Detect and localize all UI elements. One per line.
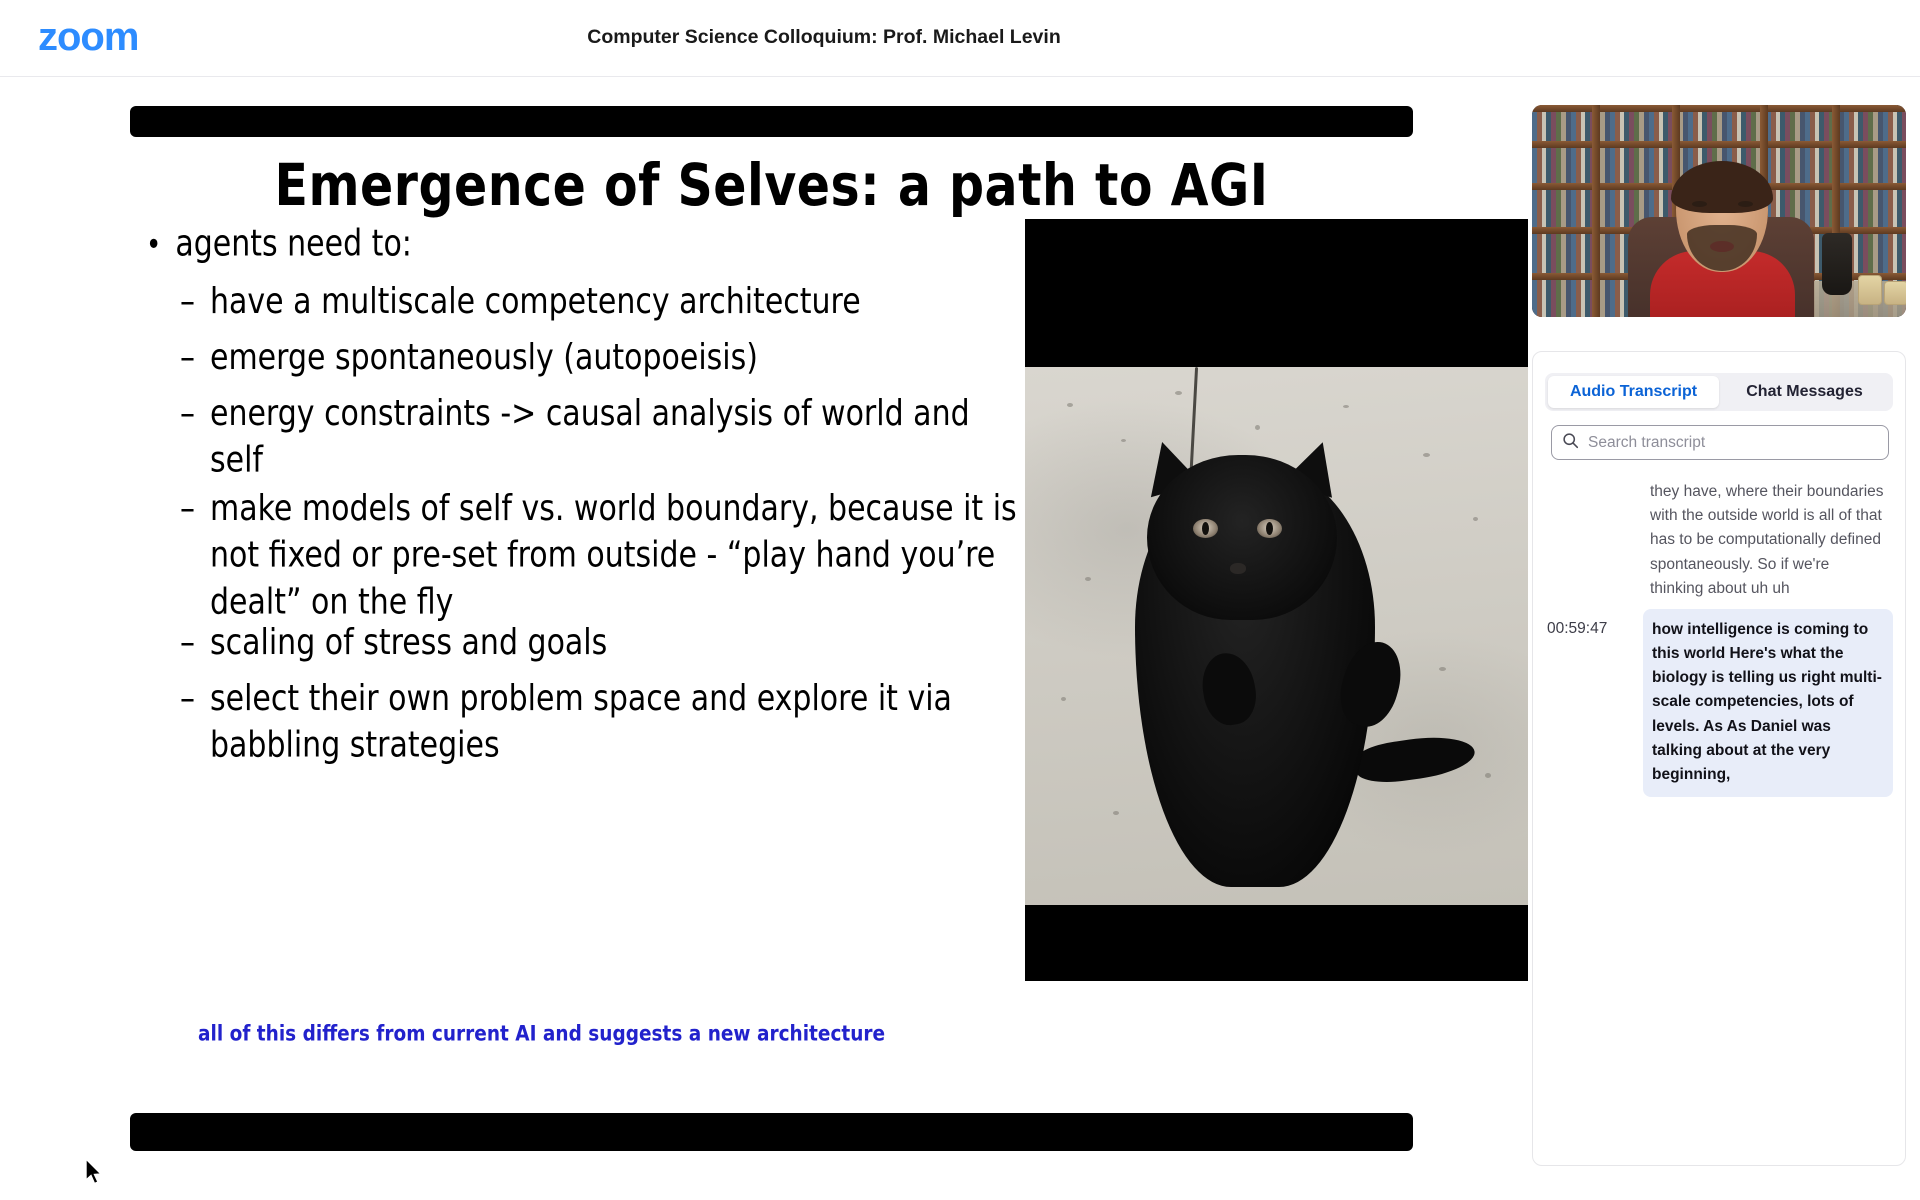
bullet-level2: – energy constraints -> causal analysis … <box>180 390 1018 484</box>
dash-marker-icon: – <box>180 675 195 722</box>
cat-head <box>1147 455 1337 620</box>
slide-sub-bullets: – have a multiscale competency architect… <box>180 278 1018 753</box>
transcript-text: they have, where their boundaries with t… <box>1643 476 1893 605</box>
search-icon <box>1562 432 1579 454</box>
slide-bullet-list: • agents need to: – have a multiscale co… <box>138 226 1018 770</box>
speaker-eye-left <box>1692 201 1707 207</box>
right-side-panel: Audio Transcript Chat Messages they have… <box>1528 78 1920 1200</box>
slide-top-bar <box>130 106 1413 137</box>
slide-title: Emergence of Selves: a path to AGI <box>130 152 1413 219</box>
bullet-level1-label: agents need to: <box>175 226 412 263</box>
speaker-webcam-tile[interactable] <box>1532 105 1906 317</box>
bullet-level2: – emerge spontaneously (autopoeisis) <box>180 334 1018 381</box>
bullet-level2-label: make models of self vs. world boundary, … <box>210 485 1018 625</box>
transcript-entries[interactable]: they have, where their boundaries with t… <box>1533 476 1906 1166</box>
kitten-video-frame <box>1025 367 1535 905</box>
bullet-level2-label: scaling of stress and goals <box>210 619 1018 666</box>
transcript-text: how intelligence is coming to this world… <box>1643 609 1893 797</box>
bullet-level2-label: energy constraints -> causal analysis of… <box>210 390 1018 484</box>
embedded-kitten-video[interactable] <box>1025 219 1535 981</box>
bullet-level2-label: emerge spontaneously (autopoeisis) <box>210 334 1018 381</box>
jar-right <box>1884 281 1906 305</box>
bullet-level2: – have a multiscale competency architect… <box>180 278 1018 325</box>
bullet-level2-label: have a multiscale competency architectur… <box>210 278 1018 325</box>
meeting-title: Computer Science Colloquium: Prof. Micha… <box>0 26 1648 49</box>
speaker-mouth <box>1710 241 1734 252</box>
bullet-level2: – scaling of stress and goals <box>180 619 1018 666</box>
tab-audio-transcript[interactable]: Audio Transcript <box>1548 376 1719 408</box>
cat-tail <box>1353 731 1477 787</box>
slide-bottom-bar <box>130 1113 1413 1151</box>
transcript-entry-active[interactable]: 00:59:47 how intelligence is coming to t… <box>1547 609 1893 797</box>
cat-eye-right <box>1257 519 1282 538</box>
bullet-dot-icon: • <box>146 230 161 262</box>
cat-eye-left <box>1193 519 1218 538</box>
transcript-panel: Audio Transcript Chat Messages they have… <box>1532 351 1906 1166</box>
app-header: zoom Computer Science Colloquium: Prof. … <box>0 0 1920 77</box>
dash-marker-icon: – <box>180 485 195 532</box>
bullet-level2: – make models of self vs. world boundary… <box>180 485 1018 625</box>
transcript-entry[interactable]: they have, where their boundaries with t… <box>1547 476 1893 605</box>
presentation-slide: Emergence of Selves: a path to AGI • age… <box>130 106 1413 1153</box>
bullet-level1: • agents need to: <box>138 226 1018 263</box>
jar-left <box>1858 275 1882 305</box>
dash-marker-icon: – <box>180 278 195 325</box>
djembe-drum <box>1822 233 1852 295</box>
speaker-eye-right <box>1738 201 1753 207</box>
bullet-level2: – select their own problem space and exp… <box>180 675 1018 769</box>
dash-marker-icon: – <box>180 390 195 437</box>
slide-footnote: all of this differs from current AI and … <box>198 1022 885 1046</box>
search-transcript-box[interactable] <box>1551 425 1889 460</box>
cat-nose <box>1230 563 1246 574</box>
panel-tab-group: Audio Transcript Chat Messages <box>1545 373 1893 411</box>
transcript-timestamp <box>1547 476 1635 605</box>
dash-marker-icon: – <box>180 619 195 666</box>
tab-chat-messages[interactable]: Chat Messages <box>1719 376 1890 408</box>
mouse-pointer-icon <box>84 1158 106 1188</box>
shared-screen-stage[interactable]: Emergence of Selves: a path to AGI • age… <box>0 78 1520 1200</box>
bullet-level2-label: select their own problem space and explo… <box>210 675 1018 769</box>
transcript-timestamp: 00:59:47 <box>1547 609 1635 797</box>
dash-marker-icon: – <box>180 334 195 381</box>
search-input[interactable] <box>1588 434 1878 452</box>
